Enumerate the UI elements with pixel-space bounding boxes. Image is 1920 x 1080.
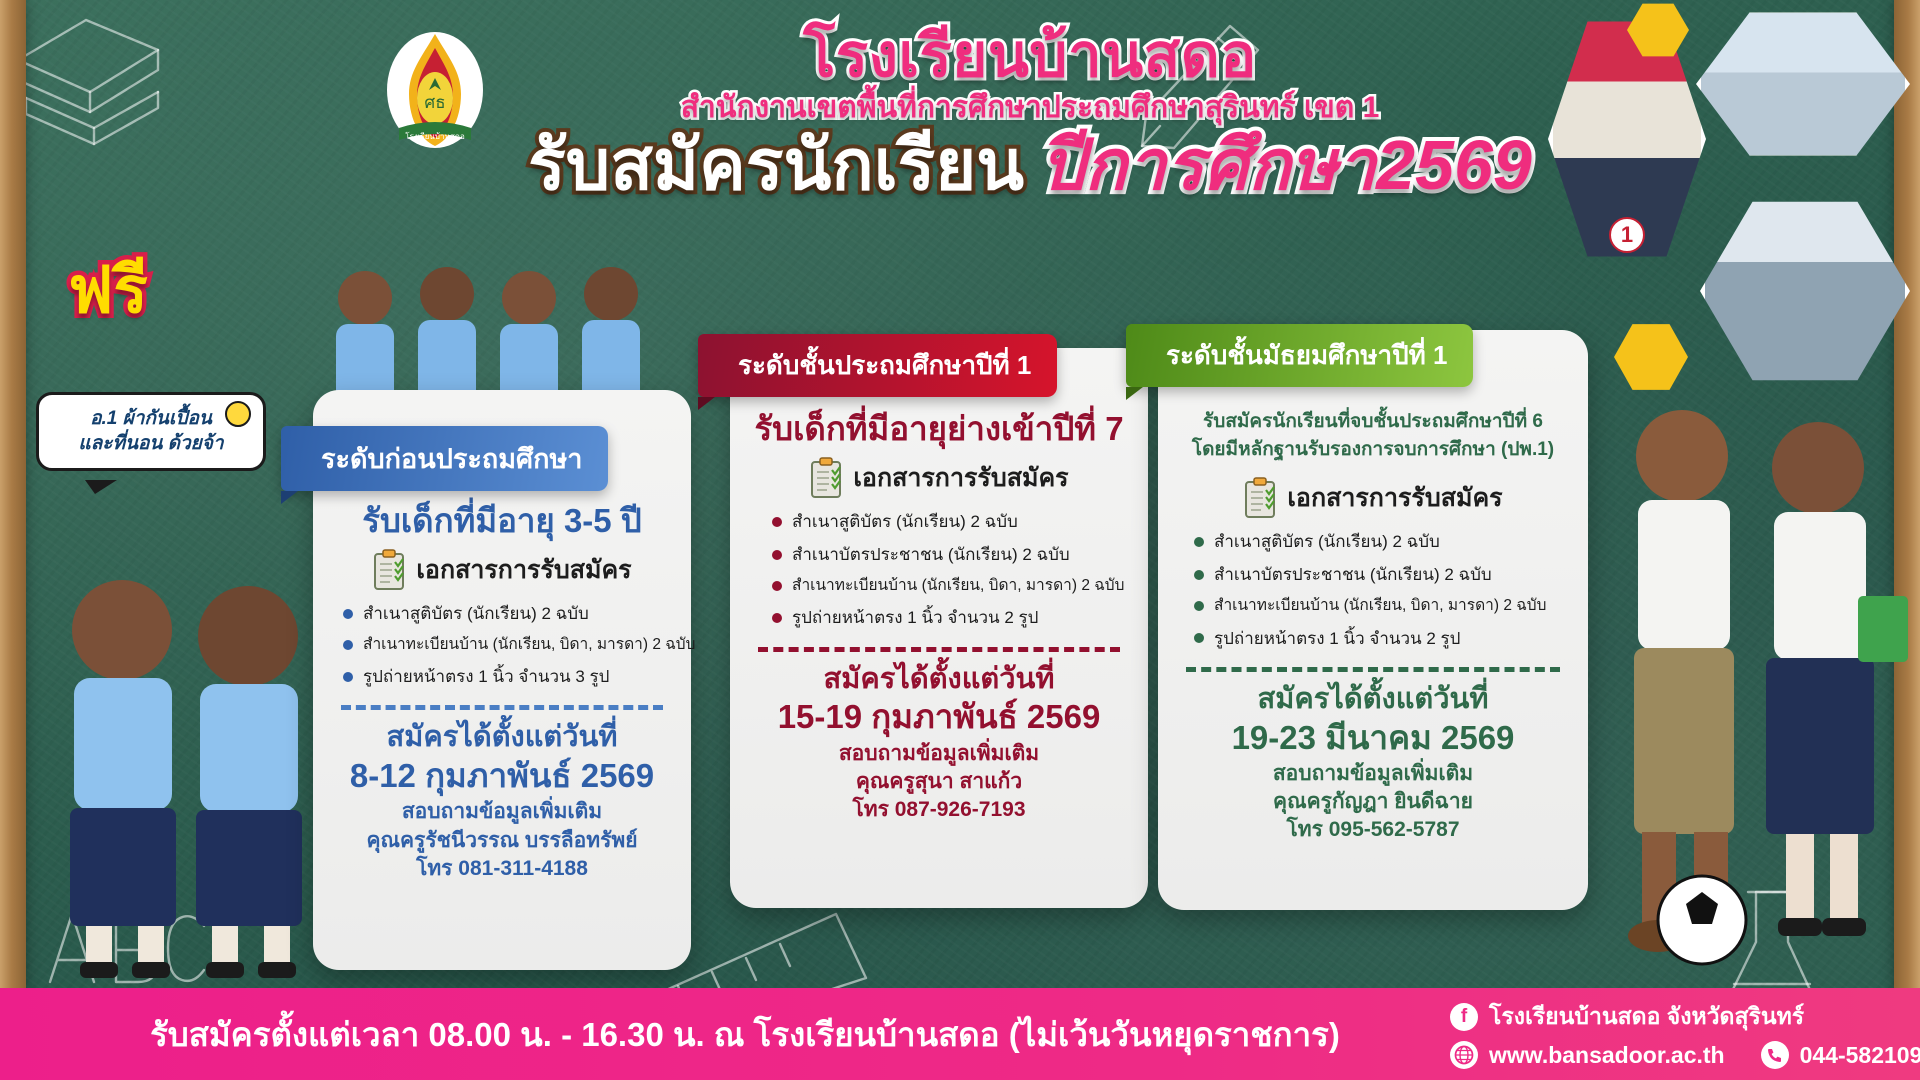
card-secondary1-docs-label: เอกสารการรับสมัคร — [1287, 478, 1502, 518]
card-preschool-headline: รับเด็กที่มีอายุ 3-5 ปี — [335, 502, 669, 541]
card-primary1-divider — [758, 647, 1120, 652]
card-secondary1-ribbon: ระดับชั้นมัธยมศึกษาปีที่ 1 — [1126, 324, 1473, 387]
card-primary1-docs-row: เอกสารการรับสมัคร — [752, 457, 1126, 499]
card-primary1-ribbon: ระดับชั้นประถมศึกษาปีที่ 1 — [698, 334, 1057, 397]
card-primary1-headline: รับเด็กที่มีอายุย่างเข้าปีที่ 7 — [752, 410, 1126, 449]
apply-headline-row: รับสมัครนักเรียนปีการศึกษา2569 — [500, 130, 1560, 201]
card-secondary1-doc-list: สำเนาสูติบัตร (นักเรียน) 2 ฉบับ สำเนาบัต… — [1190, 525, 1566, 655]
footer-facebook-row[interactable]: f โรงเรียนบ้านสดอ จังหวัดสุรินทร์ — [1450, 999, 1894, 1035]
footer-contact-block: f โรงเรียนบ้านสดอ จังหวัดสุรินทร์ www.ba… — [1450, 996, 1920, 1072]
card-secondary1-apply-date: 19-23 มีนาคม 2569 — [1180, 717, 1566, 758]
card-secondary1[interactable]: ระดับชั้นมัธยมศึกษาปีที่ 1 รับสมัครนักเร… — [1158, 330, 1588, 910]
card-preschool-apply-from: สมัครได้ตั้งแต่วันที่ — [335, 720, 669, 755]
card-secondary1-apply-from: สมัครได้ตั้งแต่วันที่ — [1180, 682, 1566, 717]
card-preschool-phone[interactable]: โทร 081-311-4188 — [335, 855, 669, 883]
list-item: สำเนาบัตรประชาชน (นักเรียน) 2 ฉบับ — [768, 538, 1126, 571]
card-primary1-doc-list: สำเนาสูติบัตร (นักเรียน) 2 ฉบับ สำเนาบัต… — [768, 505, 1126, 635]
list-item: สำเนาทะเบียนบ้าน (นักเรียน, บิดา, มารดา)… — [768, 571, 1126, 601]
title-block: โรงเรียนบ้านสดอ สำนักงานเขตพื้นที่การศึก… — [500, 24, 1560, 201]
card-secondary1-teacher: คุณครูกัญฎา ยินดีฉาย — [1180, 788, 1566, 816]
card-primary1-docs-label: เอกสารการรับสมัคร — [853, 458, 1068, 498]
card-preschool-ribbon: ระดับก่อนประถมศึกษา — [281, 426, 608, 491]
card-secondary1-divider — [1186, 667, 1560, 672]
bubble-line-2: และที่นอน ด้วยจ้า — [51, 431, 251, 456]
apply-label: รับสมัครนักเรียน — [528, 126, 1024, 204]
footer-phone-row[interactable]: 044-582109 — [1761, 1041, 1920, 1069]
photo-two-students-wai — [40, 570, 340, 980]
card-primary1-more-info: สอบถามข้อมูลเพิ่มเติม — [752, 740, 1126, 768]
card-secondary1-more-info: สอบถามข้อมูลเพิ่มเติม — [1180, 760, 1566, 788]
academic-year: ปีการศึกษา2569 — [1040, 126, 1532, 204]
list-item: สำเนาทะเบียนบ้าน (นักเรียน, บิดา, มารดา)… — [1190, 591, 1566, 621]
card-primary1-teacher: คุณครูสุนา สาแก้ว — [752, 768, 1126, 796]
list-item: สำเนาบัตรประชาชน (นักเรียน) 2 ฉบับ — [1190, 558, 1566, 591]
free-label: ฟรี — [68, 258, 148, 322]
footer-phone-text: 044-582109 — [1800, 1042, 1920, 1069]
phone-icon — [1761, 1041, 1789, 1069]
card-preschool-docs-row: เอกสารการรับสมัคร — [335, 549, 669, 591]
list-item: สำเนาสูติบัตร (นักเรียน) 2 ฉบับ — [339, 597, 669, 630]
globe-icon — [1450, 1041, 1478, 1069]
list-item: สำเนาสูติบัตร (นักเรียน) 2 ฉบับ — [768, 505, 1126, 538]
card-primary1[interactable]: ระดับชั้นประถมศึกษาปีที่ 1 รับเด็กที่มีอ… — [730, 348, 1148, 908]
card-primary1-apply-from: สมัครได้ตั้งแต่วันที่ — [752, 662, 1126, 697]
facebook-icon: f — [1450, 1003, 1478, 1031]
school-name: โรงเรียนบ้านสดอ — [500, 24, 1560, 87]
bubble-line-1: อ.1 ผ้ากันเปื้อน — [51, 406, 251, 431]
card-secondary1-docs-row: เอกสารการรับสมัคร — [1180, 477, 1566, 519]
free-badge: ฟรี — [68, 258, 148, 322]
photo-secondary-students — [1590, 400, 1920, 980]
card-preschool-divider — [341, 705, 663, 710]
list-item: สำเนาทะเบียนบ้าน (นักเรียน, บิดา, มารดา)… — [339, 630, 669, 660]
clipboard-icon — [809, 457, 843, 499]
poster-footer: รับสมัครตั้งแต่เวลา 08.00 น. - 16.30 น. … — [0, 988, 1920, 1080]
card-preschool-teacher: คุณครูรัชนีวรรณ บรรลือทรัพย์ — [335, 827, 669, 855]
card-secondary1-phone[interactable]: โทร 095-562-5787 — [1180, 816, 1566, 844]
card-primary1-apply-date: 15-19 กุมภาพันธ์ 2569 — [752, 696, 1126, 737]
clipboard-icon — [372, 549, 406, 591]
footer-facebook-text: โรงเรียนบ้านสดอ จังหวัดสุรินทร์ — [1489, 999, 1804, 1035]
school-crest-icon: ศธ โรงเรียนบ้านสดอ — [383, 28, 488, 153]
footer-hours-text: รับสมัครตั้งแต่เวลา 08.00 น. - 16.30 น. … — [0, 1008, 1450, 1061]
card-preschool-docs-label: เอกสารการรับสมัคร — [416, 550, 631, 590]
card-preschool-more-info: สอบถามข้อมูลเพิ่มเติม — [335, 798, 669, 826]
svg-text:โรงเรียนบ้านสดอ: โรงเรียนบ้านสดอ — [405, 131, 465, 141]
list-item: รูปถ่ายหน้าตรง 1 นิ้ว จำนวน 3 รูป — [339, 660, 669, 693]
card-preschool[interactable]: ระดับก่อนประถมศึกษา รับเด็กที่มีอายุ 3-5… — [313, 390, 691, 970]
card-preschool-doc-list: สำเนาสูติบัตร (นักเรียน) 2 ฉบับ สำเนาทะเ… — [339, 597, 669, 694]
list-item: รูปถ่ายหน้าตรง 1 นิ้ว จำนวน 2 รูป — [768, 601, 1126, 634]
footer-website-row[interactable]: www.bansadoor.ac.th — [1450, 1041, 1725, 1069]
card-secondary1-note-1: รับสมัครนักเรียนที่จบชั้นประถมศึกษาปีที่… — [1180, 408, 1566, 436]
card-preschool-apply-date: 8-12 กุมภาพันธ์ 2569 — [335, 755, 669, 796]
poster-canvas: ศธ โรงเรียนบ้านสดอ โรงเรียนบ้านสดอ สำนัก… — [0, 0, 1920, 1080]
svg-text:ศธ: ศธ — [424, 93, 445, 112]
hex-accent-mid — [1614, 322, 1688, 392]
footer-website-text: www.bansadoor.ac.th — [1489, 1042, 1725, 1069]
clipboard-icon — [1243, 477, 1277, 519]
list-item: สำเนาสูติบัตร (นักเรียน) 2 ฉบับ — [1190, 525, 1566, 558]
education-office: สำนักงานเขตพื้นที่การศึกษาประถมศึกษาสุริ… — [500, 91, 1560, 126]
smiley-icon — [225, 401, 251, 427]
list-item: รูปถ่ายหน้าตรง 1 นิ้ว จำนวน 2 รูป — [1190, 622, 1566, 655]
card-primary1-phone[interactable]: โทร 087-926-7193 — [752, 796, 1126, 824]
free-items-speech-bubble: อ.1 ผ้ากันเปื้อน และที่นอน ด้วยจ้า — [36, 392, 266, 471]
poster-header: ศธ โรงเรียนบ้านสดอ โรงเรียนบ้านสดอ สำนัก… — [0, 0, 1920, 270]
card-secondary1-note-2: โดยมีหลักฐานรับรองการจบการศึกษา (ปพ.1) — [1180, 436, 1566, 464]
